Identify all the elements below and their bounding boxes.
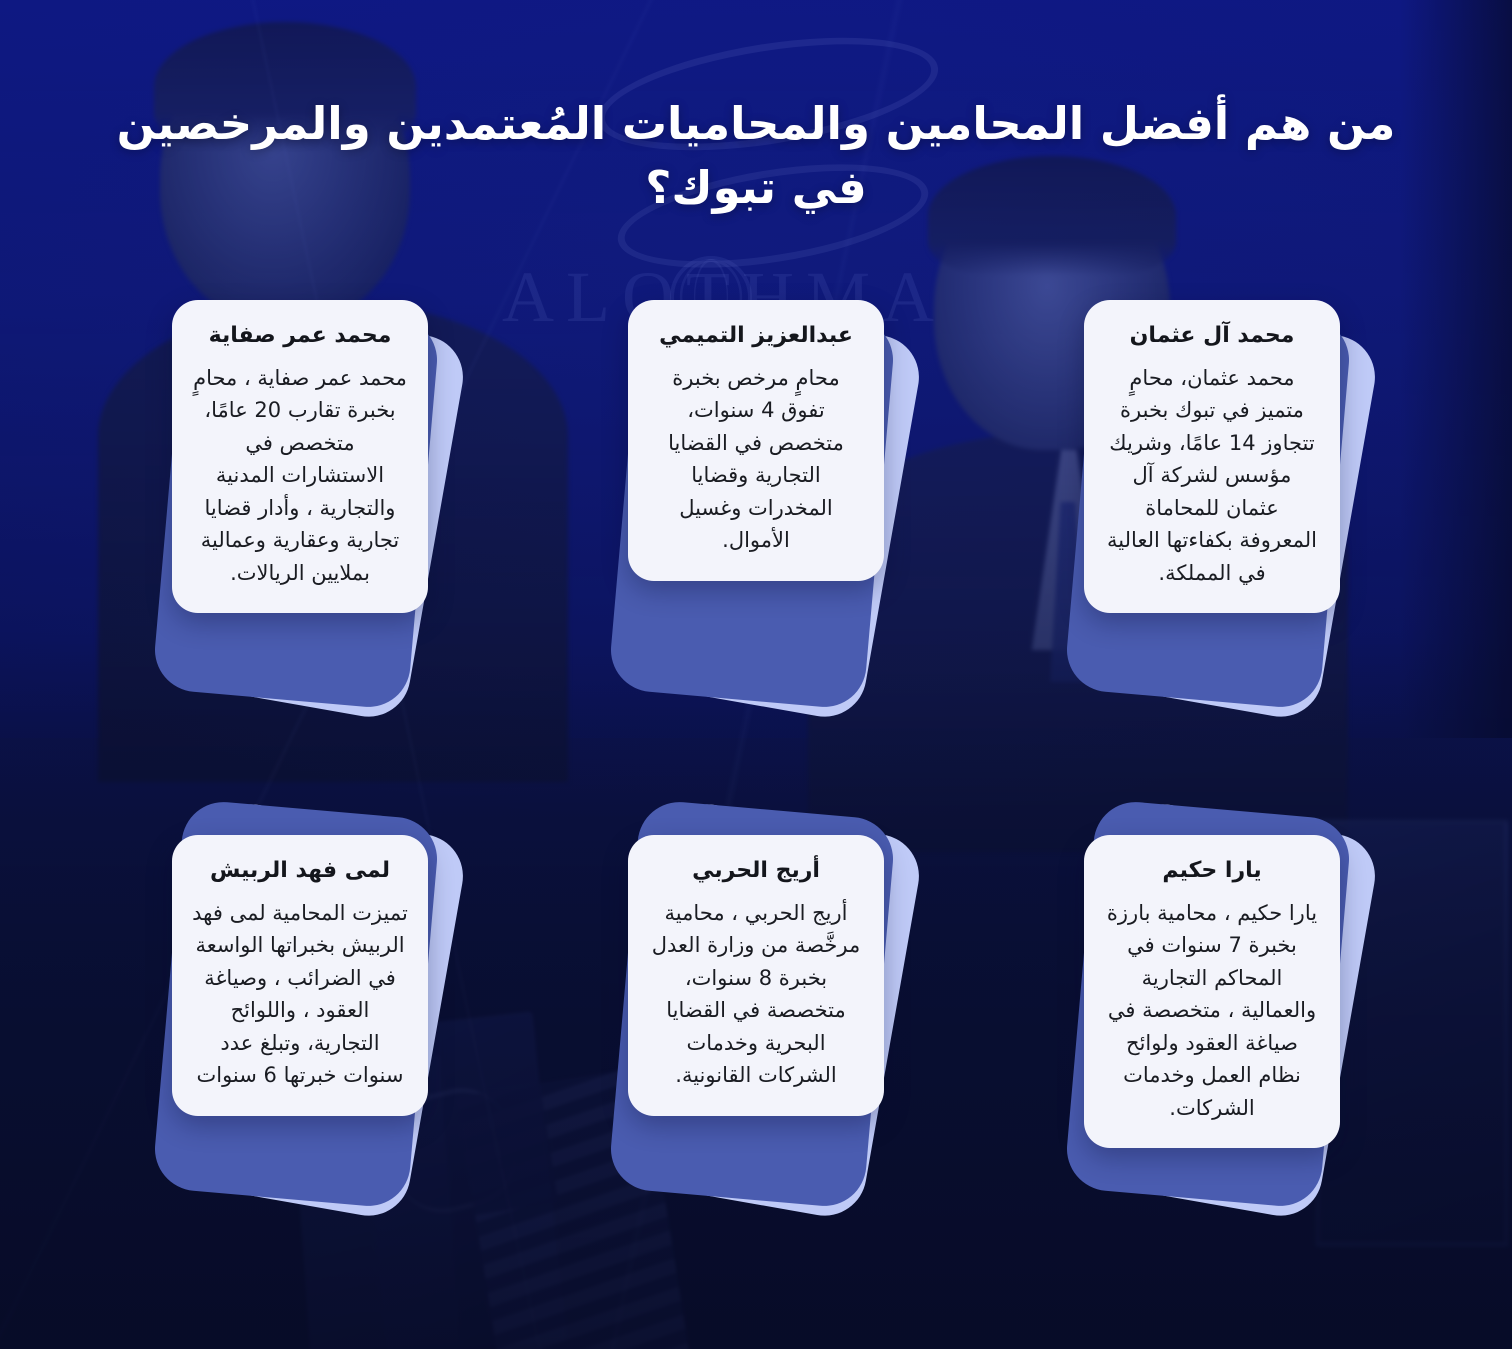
card-row-bottom: يارا حكيم يارا حكيم ، محامية بارزة بخبرة…: [0, 835, 1512, 1235]
card-row-top: محمد آل عثمان محمد عثمان، محامٍ متميز في…: [0, 300, 1512, 700]
lawyer-bio: تميزت المحامية لمى فهد الربيش بخبراتها ا…: [192, 897, 408, 1092]
infographic-canvas: ALOTHMAN آل عثمان للمحاماة من هم أفضل ال…: [0, 0, 1512, 1349]
card-surface: يارا حكيم يارا حكيم ، محامية بارزة بخبرة…: [1084, 835, 1340, 1148]
lawyer-bio: محمد عثمان، محامٍ متميز في تبوك بخبرة تت…: [1104, 362, 1320, 590]
card-surface: محمد آل عثمان محمد عثمان، محامٍ متميز في…: [1084, 300, 1340, 613]
lawyer-card-areej-al-harbi[interactable]: أريج الحربي أريج الحربي ، محامية مرخَّصة…: [628, 835, 884, 1235]
lawyer-card-abdulaziz-al-tamimi[interactable]: عبدالعزيز التميمي محامٍ مرخص بخبرة تفوق …: [628, 300, 884, 700]
card-surface: أريج الحربي أريج الحربي ، محامية مرخَّصة…: [628, 835, 884, 1116]
lawyer-name: محمد عمر صفاية: [192, 322, 408, 350]
card-surface: محمد عمر صفاية محمد عمر صفاية ، محامٍ بخ…: [172, 300, 428, 613]
lawyer-bio: محمد عمر صفاية ، محامٍ بخبرة تقارب 20 عا…: [192, 362, 408, 590]
lawyer-card-mohammed-omar-safaya[interactable]: محمد عمر صفاية محمد عمر صفاية ، محامٍ بخ…: [172, 300, 428, 700]
lawyer-bio: محامٍ مرخص بخبرة تفوق 4 سنوات، متخصص في …: [648, 362, 864, 557]
card-surface: عبدالعزيز التميمي محامٍ مرخص بخبرة تفوق …: [628, 300, 884, 581]
lawyer-name: أريج الحربي: [648, 857, 864, 885]
lawyer-card-lama-fahd-al-rubaish[interactable]: لمى فهد الربيش تميزت المحامية لمى فهد ال…: [172, 835, 428, 1235]
page-title: من هم أفضل المحامين والمحاميات المُعتمدي…: [72, 92, 1440, 220]
lawyer-bio: أريج الحربي ، محامية مرخَّصة من وزارة ال…: [648, 897, 864, 1092]
lawyer-name: عبدالعزيز التميمي: [648, 322, 864, 350]
lawyer-name: محمد آل عثمان: [1104, 322, 1320, 350]
lawyer-bio: يارا حكيم ، محامية بارزة بخبرة 7 سنوات ف…: [1104, 897, 1320, 1125]
lawyer-card-yara-hakeem[interactable]: يارا حكيم يارا حكيم ، محامية بارزة بخبرة…: [1084, 835, 1340, 1235]
lawyer-card-mohammed-al-othman[interactable]: محمد آل عثمان محمد عثمان، محامٍ متميز في…: [1084, 300, 1340, 700]
lawyer-card-grid: محمد آل عثمان محمد عثمان، محامٍ متميز في…: [0, 300, 1512, 1235]
lawyer-name: لمى فهد الربيش: [192, 857, 408, 885]
card-surface: لمى فهد الربيش تميزت المحامية لمى فهد ال…: [172, 835, 428, 1116]
lawyer-name: يارا حكيم: [1104, 857, 1320, 885]
